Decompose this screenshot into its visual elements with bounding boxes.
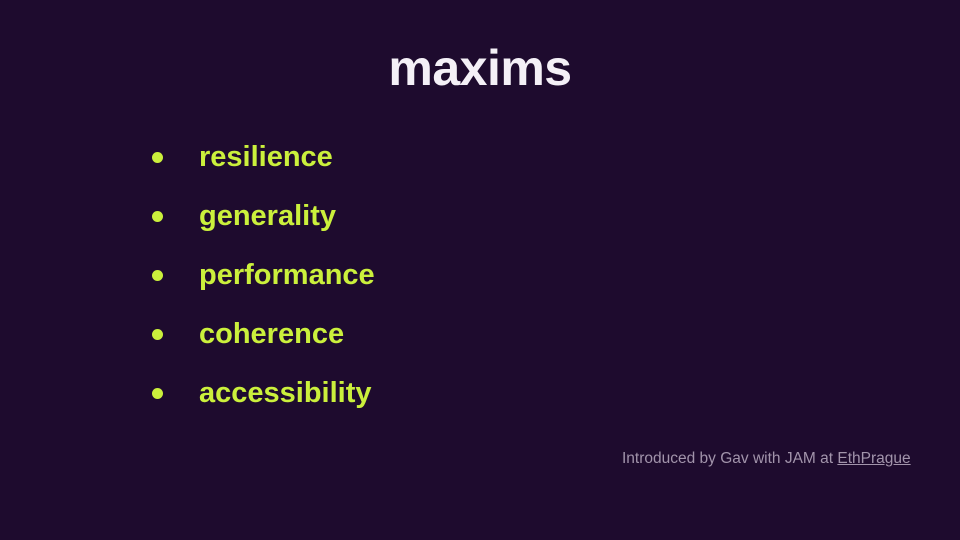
list-item: generality xyxy=(152,195,375,238)
footnote: Introduced by Gav with JAM at EthPrague xyxy=(622,448,922,470)
slide-canvas: maxims resilience generality performance… xyxy=(0,0,960,540)
footnote-text: Introduced by Gav with JAM at xyxy=(622,450,837,467)
list-item-label: resilience xyxy=(199,143,333,172)
page-title: maxims xyxy=(0,42,960,95)
list-item: coherence xyxy=(152,313,375,356)
list-item: performance xyxy=(152,254,375,297)
bullet-dot-icon xyxy=(152,270,163,281)
list-item-label: performance xyxy=(199,261,375,290)
list-item-label: accessibility xyxy=(199,379,372,408)
list-item-label: coherence xyxy=(199,320,344,349)
bullet-dot-icon xyxy=(152,152,163,163)
bullet-dot-icon xyxy=(152,388,163,399)
list-item: resilience xyxy=(152,136,375,179)
bullet-dot-icon xyxy=(152,211,163,222)
ethprague-link[interactable]: EthPrague xyxy=(837,450,910,467)
list-item: accessibility xyxy=(152,372,375,415)
bullet-dot-icon xyxy=(152,329,163,340)
list-item-label: generality xyxy=(199,202,336,231)
maxims-list: resilience generality performance cohere… xyxy=(152,136,375,415)
